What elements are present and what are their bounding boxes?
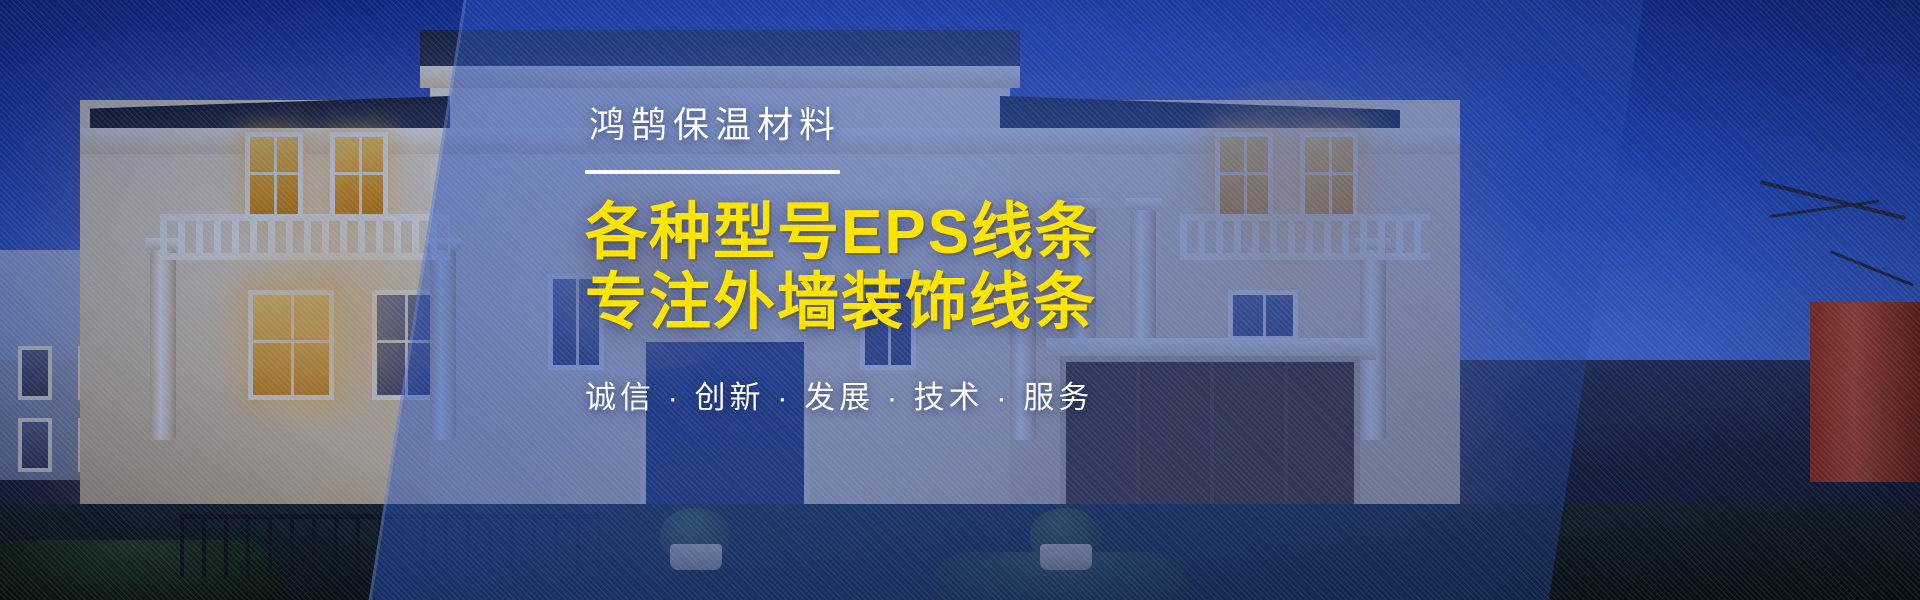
hero-banner: 鸿鹄保温材料 各种型号EPS线条 专注外墙装饰线条 诚信 · 创新 · 发展 ·… <box>0 0 1920 600</box>
headline: 各种型号EPS线条 专注外墙装饰线条 <box>585 198 1345 338</box>
headline-line-2: 专注外墙装饰线条 <box>585 268 1345 338</box>
title-divider <box>585 170 840 174</box>
headline-line-1: 各种型号EPS线条 <box>585 198 1099 267</box>
banner-content: 鸿鹄保温材料 各种型号EPS线条 专注外墙装饰线条 诚信 · 创新 · 发展 ·… <box>585 96 1345 417</box>
tagline: 诚信 · 创新 · 发展 · 技术 · 服务 <box>585 372 1345 417</box>
brand-kicker: 鸿鹄保温材料 <box>585 96 1345 148</box>
